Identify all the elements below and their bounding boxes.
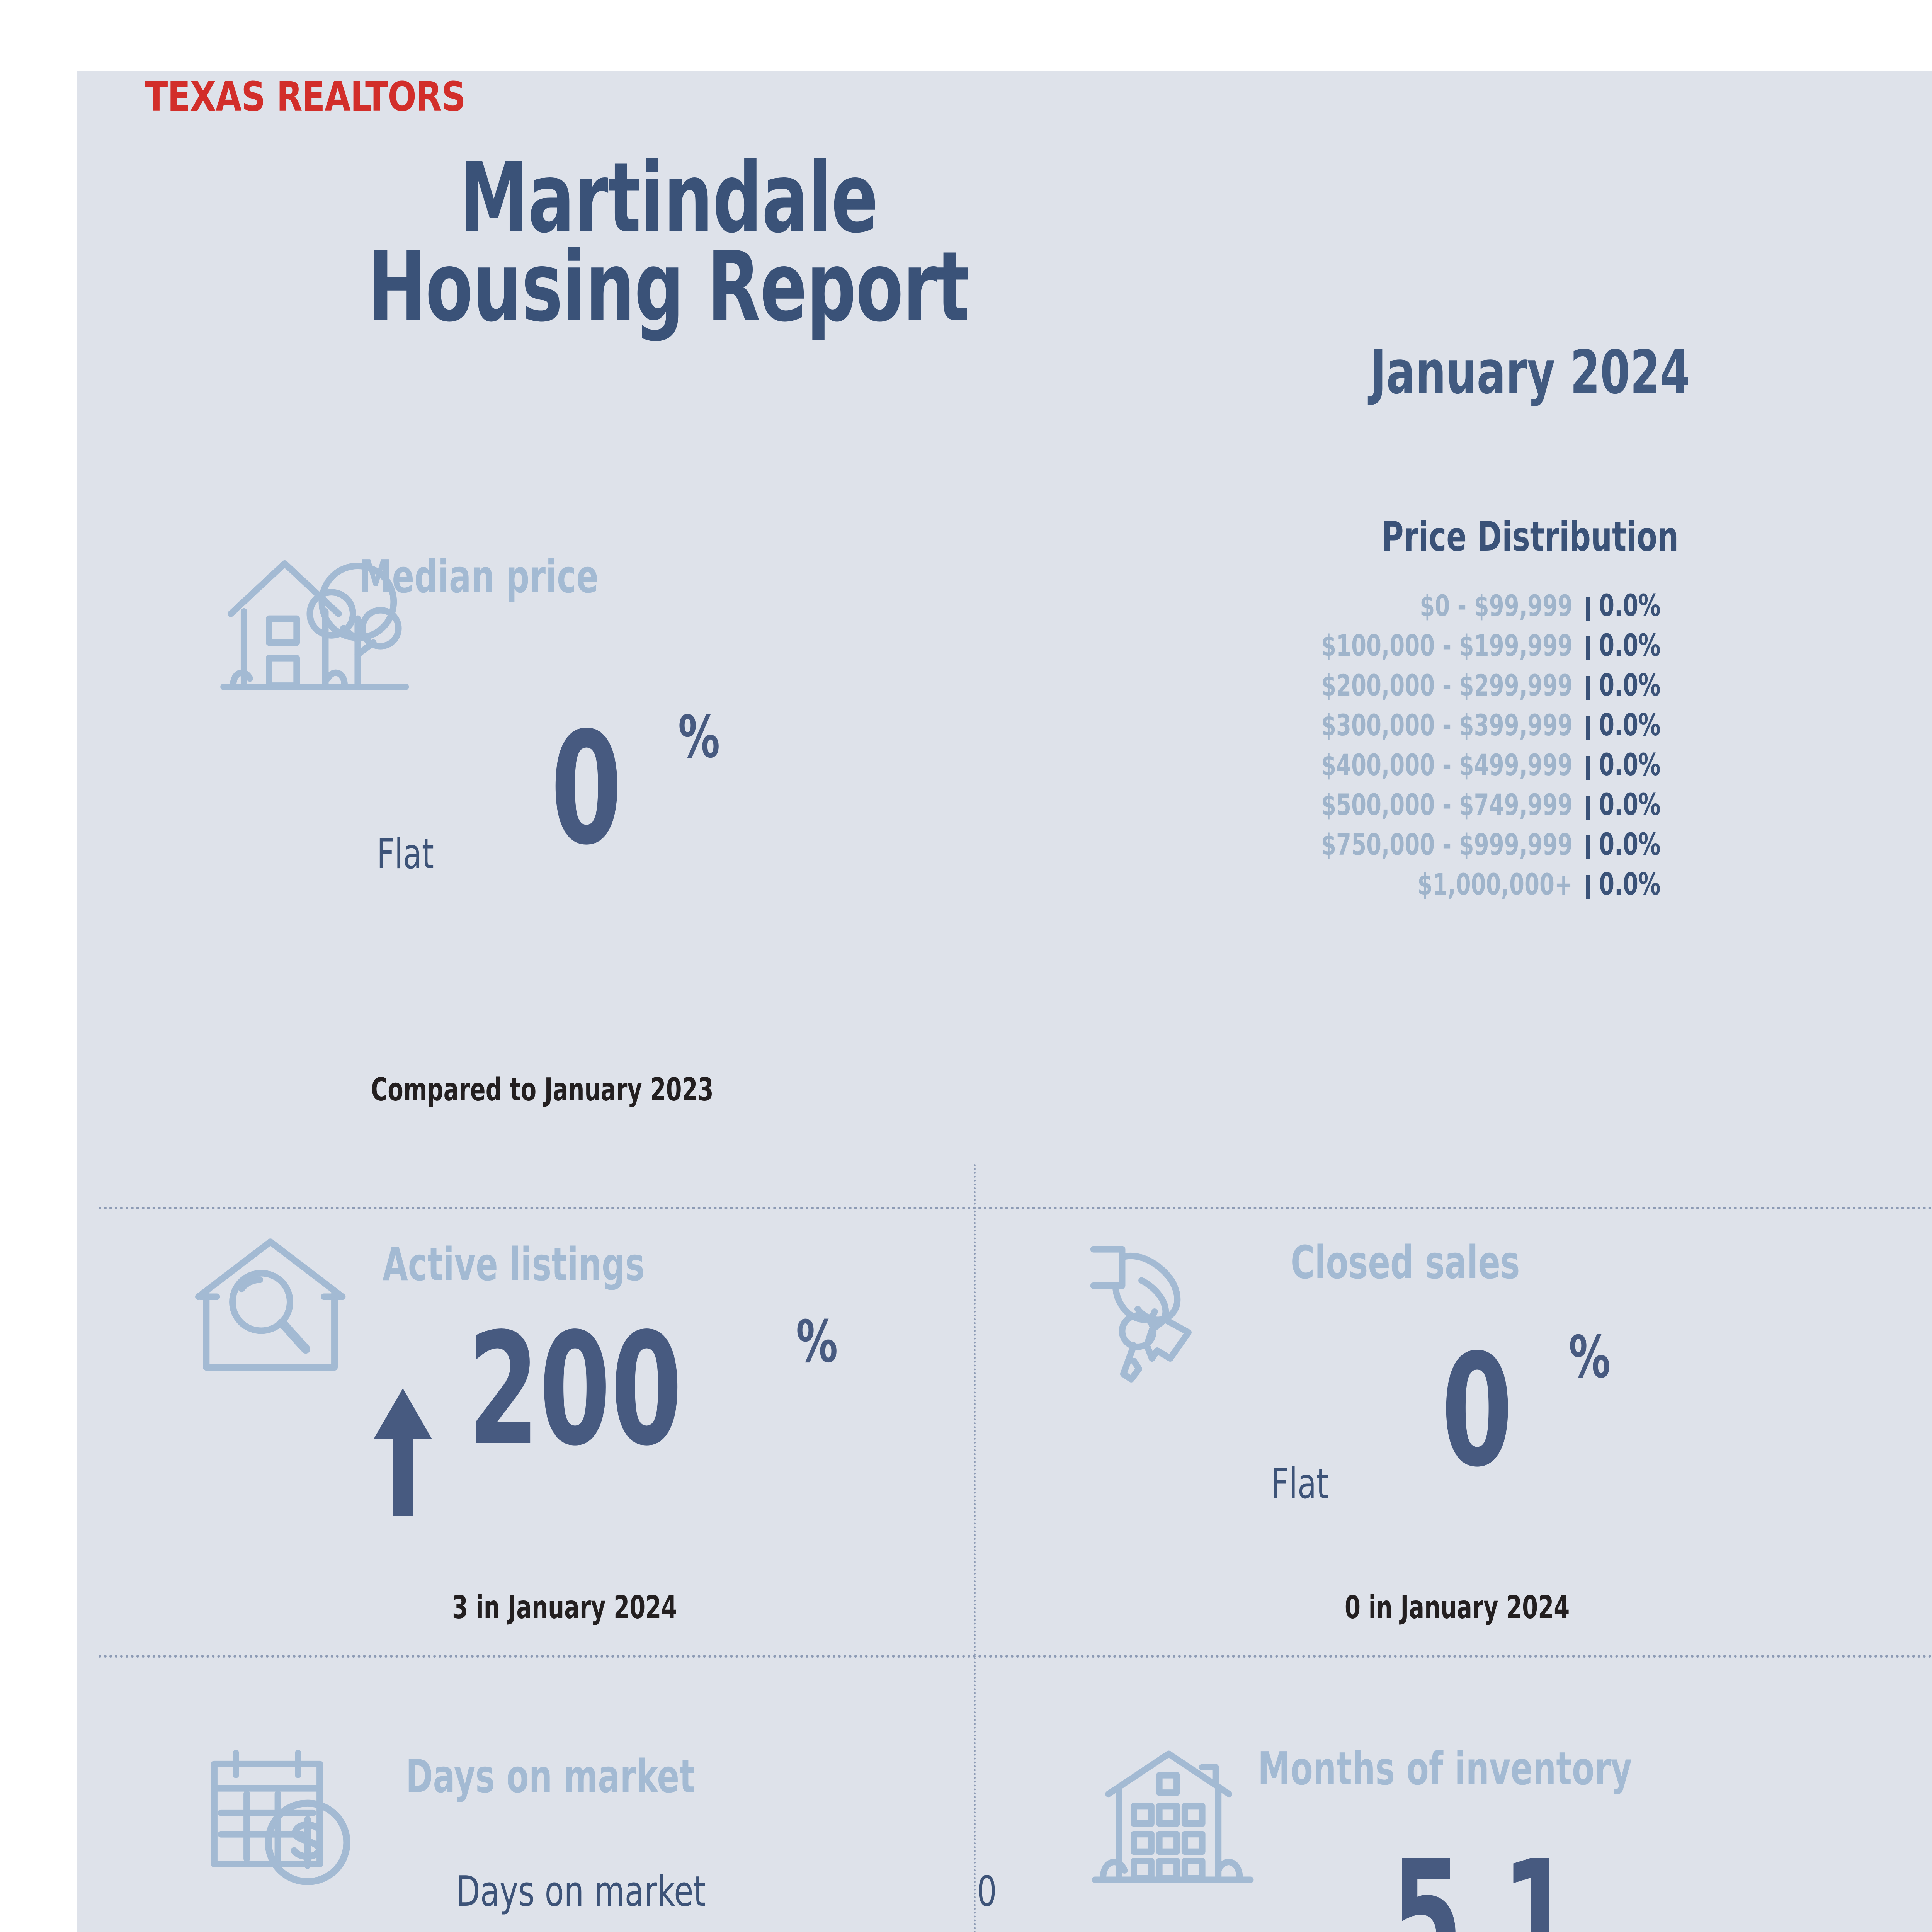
price-range-value: 0.0%	[1599, 827, 1661, 862]
divider-vertical	[974, 1164, 976, 1932]
price-distribution-row: $300,000 - $399,999 0.0%	[1182, 708, 1889, 748]
price-range-label: $0 - $99,999	[1253, 588, 1573, 623]
price-range-value: 0.0%	[1599, 787, 1661, 822]
hand-keys-icon	[1090, 1242, 1240, 1392]
dom-row-value: 0	[977, 1867, 997, 1916]
apartment-building-icon	[1090, 1746, 1256, 1895]
active-listings-unit: %	[796, 1313, 838, 1371]
title-report: Housing Report	[298, 243, 1039, 332]
price-range-label: $400,000 - $499,999	[1253, 748, 1573, 782]
price-range-label: $200,000 - $299,999	[1253, 668, 1573, 702]
tick-mark-icon	[1586, 756, 1590, 780]
tick-mark-icon	[1586, 835, 1590, 859]
tick-mark-icon	[1586, 636, 1590, 660]
price-range-label: $500,000 - $749,999	[1253, 787, 1573, 822]
price-range-label: $100,000 - $199,999	[1253, 628, 1573, 663]
price-distribution-row: $500,000 - $749,999 0.0%	[1182, 787, 1889, 827]
price-range-value: 0.0%	[1599, 867, 1661, 902]
house-magnifier-icon	[193, 1234, 363, 1381]
median-price-heading: Median price	[359, 550, 599, 603]
calendar-dollar-icon	[205, 1748, 367, 1893]
price-distribution-row: $0 - $99,999 0.0%	[1182, 588, 1889, 628]
price-range-value: 0.0%	[1599, 628, 1661, 663]
price-range-value: 0.0%	[1599, 588, 1661, 623]
months-of-inventory-heading: Months of inventory	[1258, 1742, 1632, 1795]
page-title: Martindale Housing Report	[205, 154, 1132, 332]
price-range-label: $750,000 - $999,999	[1253, 827, 1573, 862]
price-range-value: 0.0%	[1599, 668, 1661, 703]
price-distribution-row: $200,000 - $299,999 0.0%	[1182, 668, 1889, 708]
closed-sales-value: 0	[1441, 1334, 1513, 1489]
price-distribution-row: $400,000 - $499,999 0.0%	[1182, 748, 1889, 787]
days-on-market-table: Days on market 0 Days to close 0 Total 0	[456, 1867, 997, 1932]
table-row: Days on market 0	[456, 1867, 997, 1932]
closed-sales-caption: 0 in January 2024	[1345, 1589, 1570, 1626]
price-distribution-list: $0 - $99,999 0.0% $100,000 - $199,999 0.…	[1182, 588, 1889, 907]
days-on-market-heading: Days on market	[406, 1750, 695, 1803]
active-listings-caption: 3 in January 2024	[452, 1589, 677, 1626]
closed-sales-direction: Flat	[1271, 1460, 1328, 1508]
title-city: Martindale	[298, 154, 1039, 243]
median-price-value: 0	[551, 712, 622, 867]
tick-mark-icon	[1586, 597, 1590, 621]
price-range-label: $300,000 - $399,999	[1253, 708, 1573, 742]
median-price-direction: Flat	[377, 830, 434, 878]
price-distribution-row: $100,000 - $199,999 0.0%	[1182, 628, 1889, 668]
divider-horizontal-bottom	[99, 1655, 1932, 1658]
housing-report-page: Martindale Housing Report January 2024 P…	[77, 71, 1932, 1932]
active-listings-value: 200	[468, 1313, 682, 1468]
closed-sales-heading: Closed sales	[1291, 1236, 1520, 1289]
dom-row-label: Days on market	[456, 1867, 706, 1916]
tick-mark-icon	[1586, 716, 1590, 740]
price-range-value: 0.0%	[1599, 748, 1661, 782]
price-distribution-row: $1,000,000+ 0.0%	[1182, 867, 1889, 907]
price-distribution-row: $750,000 - $999,999 0.0%	[1182, 827, 1889, 867]
price-range-label: $1,000,000+	[1253, 867, 1573, 901]
active-listings-heading: Active listings	[383, 1238, 645, 1291]
report-month: January 2024	[1221, 337, 1839, 407]
price-range-value: 0.0%	[1599, 708, 1661, 743]
median-price-unit: %	[678, 708, 720, 766]
divider-horizontal-top	[99, 1207, 1932, 1209]
months-of-inventory-value: 5.1	[1391, 1840, 1573, 1932]
tick-mark-icon	[1586, 676, 1590, 700]
median-price-caption: Compared to January 2023	[371, 1071, 714, 1108]
texas-realtors-wordmark: TEXAS REALTORS	[145, 73, 465, 120]
tick-mark-icon	[1586, 875, 1590, 899]
tick-mark-icon	[1586, 796, 1590, 820]
closed-sales-unit: %	[1569, 1328, 1611, 1386]
arrow-up-icon	[371, 1384, 435, 1520]
price-distribution-title: Price Distribution	[1213, 513, 1847, 560]
